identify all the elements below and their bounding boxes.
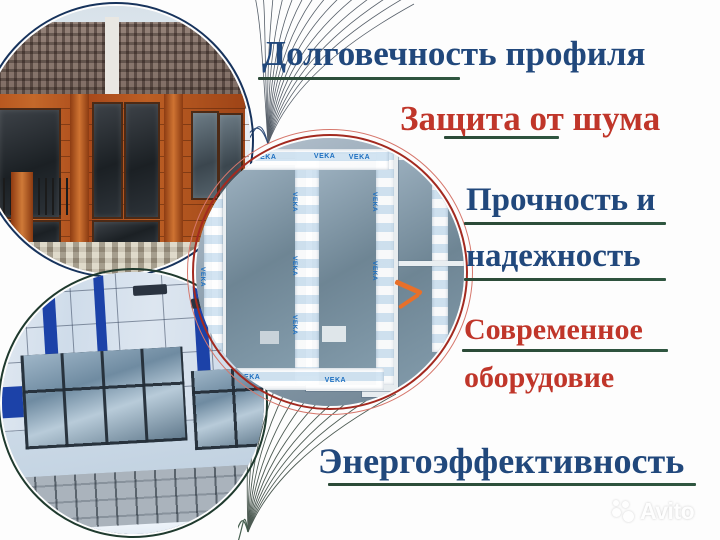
- feature-underline-durability: [258, 77, 460, 80]
- avito-logo-dot: [612, 508, 621, 517]
- feature-underline-noise: [444, 136, 559, 139]
- avito-logo-dot: [622, 501, 629, 508]
- avito-watermark: Avito: [612, 500, 708, 526]
- avito-watermark-label: Avito: [640, 498, 694, 525]
- avito-logo-dot: [613, 500, 619, 506]
- avito-logo-dot: [623, 511, 634, 522]
- feature-underline-equipment-1: [462, 349, 668, 352]
- feature-underline-efficiency: [328, 483, 696, 486]
- feature-underline-strength-1: [464, 222, 666, 225]
- feature-text-strength-2: надежность: [466, 238, 641, 275]
- feature-text-equipment-2: оборудовие: [464, 361, 614, 395]
- feature-text-strength-1: Прочность и: [466, 182, 655, 219]
- feature-text-efficiency: Энергоэффективность: [318, 440, 684, 482]
- feature-underline-strength-2: [464, 278, 666, 281]
- feature-text-equipment-1: Современное: [464, 313, 643, 347]
- feature-text-durability: Долговечность профиля: [262, 34, 645, 74]
- advert-canvas: VEKA VEKA VEKA VEKA VEKA VEKA VEKA VEKA …: [0, 0, 720, 540]
- feature-text-noise: Защита от шума: [400, 99, 660, 139]
- photo-pvc-windows: VEKA VEKA VEKA VEKA VEKA VEKA VEKA VEKA …: [196, 138, 464, 406]
